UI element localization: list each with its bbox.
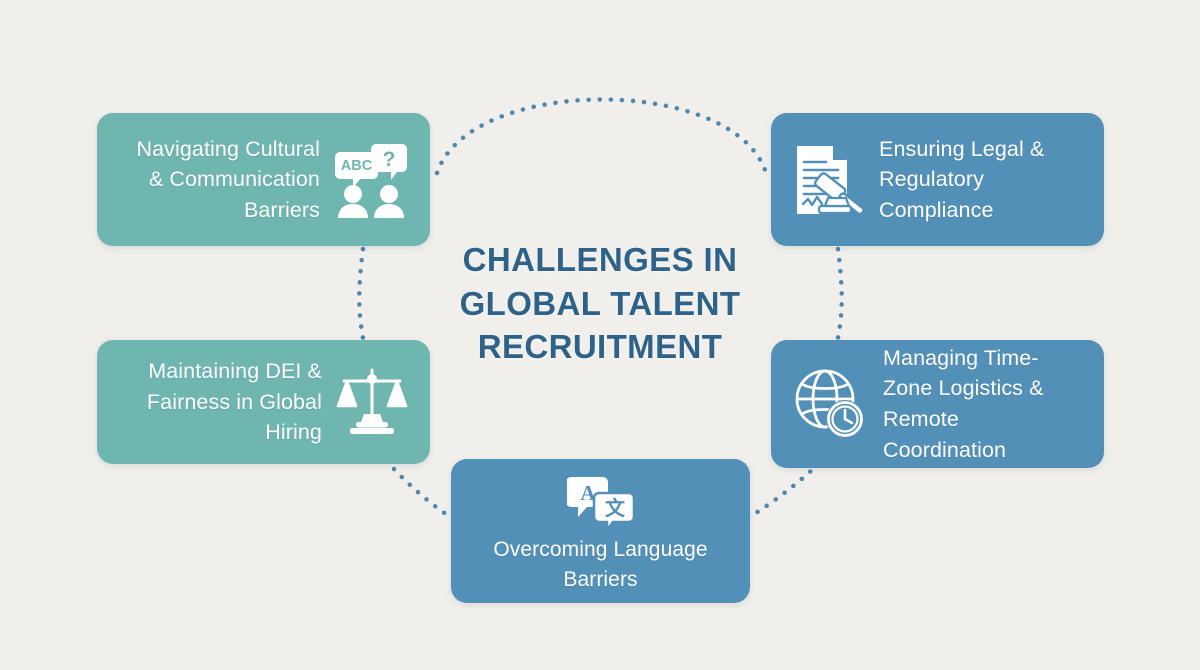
card-legal-compliance[interactable]: Ensuring Legal & Regulatory Compliance xyxy=(771,113,1104,246)
translate-bubbles-icon: A 文 xyxy=(567,475,635,531)
connector-top-arc xyxy=(437,100,766,174)
card-legal-label: Ensuring Legal & Regulatory Compliance xyxy=(879,134,1044,226)
card-cultural-label: Navigating Cultural & Communication Barr… xyxy=(136,134,320,226)
people-speech-bubbles-icon: ABC ? xyxy=(334,142,408,218)
connector-bottomleft-diagonal xyxy=(394,469,452,518)
card-cultural-barriers[interactable]: Navigating Cultural & Communication Barr… xyxy=(97,113,430,246)
center-title: CHALLENGES IN GLOBAL TALENT RECRUITMENT xyxy=(420,238,780,369)
card-timezone-label: Managing Time- Zone Logistics & Remote C… xyxy=(883,343,1044,465)
svg-text:ABC: ABC xyxy=(341,158,373,174)
connector-bottomright-diagonal xyxy=(748,470,812,518)
svg-text:?: ? xyxy=(383,148,396,171)
card-dei-label: Maintaining DEI & Fairness in Global Hir… xyxy=(147,356,322,448)
card-language-label: Overcoming Language Barriers xyxy=(493,535,707,595)
card-language-barriers[interactable]: A 文 Overcoming Language Barriers xyxy=(451,459,750,603)
connector-left-vertical xyxy=(359,249,363,338)
infographic-canvas: Navigating Cultural & Communication Barr… xyxy=(0,0,1200,670)
document-gavel-icon xyxy=(793,142,863,218)
balance-scales-icon xyxy=(336,366,408,438)
connector-right-vertical xyxy=(838,249,842,338)
globe-clock-icon xyxy=(793,367,867,441)
card-timezone-coordination[interactable]: Managing Time- Zone Logistics & Remote C… xyxy=(771,340,1104,468)
card-dei-fairness[interactable]: Maintaining DEI & Fairness in Global Hir… xyxy=(97,340,430,464)
svg-text:文: 文 xyxy=(605,496,626,520)
